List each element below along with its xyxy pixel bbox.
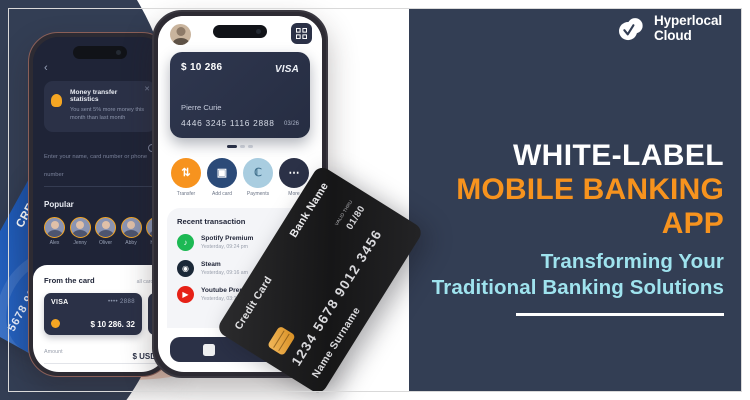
- contact-name: Oliver: [95, 240, 116, 246]
- contact-item[interactable]: Abby: [121, 217, 142, 247]
- primary-bank-card[interactable]: $ 10 286 VISA Pierre Curie 4446 3245 111…: [170, 52, 310, 138]
- close-icon[interactable]: ✕: [144, 85, 150, 93]
- headline-line-3: Transforming Your: [424, 249, 724, 276]
- banner: Hyperlocal Cloud WHITE-LABEL MOBILE BANK…: [0, 0, 750, 400]
- recipient-search-input[interactable]: Enter your name, card number or phone nu…: [44, 145, 156, 187]
- phone-notch: [73, 46, 127, 59]
- wallet-icon[interactable]: [203, 344, 215, 356]
- brand-logo[interactable]: Hyperlocal Cloud: [619, 14, 722, 43]
- transaction-name: Spotify Premium: [201, 235, 253, 242]
- stats-title: Money transfer statistics: [70, 89, 147, 103]
- amount-input[interactable]: $ USD: [44, 363, 156, 364]
- card-expiry: 03/26: [284, 121, 299, 127]
- contact-name: Alex: [44, 240, 65, 246]
- left-phone-mockup: ‹ ✕ Money transfer statistics You sent 5…: [28, 32, 172, 377]
- contact-name: Jenny: [70, 240, 91, 246]
- headline-block: WHITE-LABEL MOBILE BANKING APP Transform…: [424, 140, 724, 316]
- from-card-label: From the card: [44, 276, 95, 285]
- avatar: [121, 217, 142, 238]
- stats-subtitle: You sent 5% more money this month than l…: [70, 106, 147, 123]
- headline-underline: [516, 313, 724, 317]
- youtube-icon: ▶: [177, 286, 194, 303]
- card-number: 4446 3245 1116 2888: [181, 118, 275, 128]
- brand-name: Hyperlocal Cloud: [654, 14, 722, 43]
- brand-name-line2: Cloud: [654, 29, 722, 44]
- contact-item[interactable]: Jenny: [70, 217, 91, 247]
- quick-actions: ⇅ Transfer ▣ Add card ℂ Payments ⋯ More: [158, 148, 322, 198]
- brand-name-line1: Hyperlocal: [654, 14, 722, 29]
- action-transfer[interactable]: ⇅ Transfer: [171, 158, 201, 198]
- spotify-icon: ♪: [177, 234, 194, 251]
- headline-line-1: WHITE-LABEL: [424, 140, 724, 172]
- action-add-card[interactable]: ▣ Add card: [207, 158, 237, 198]
- contact-name: Abby: [121, 240, 142, 246]
- avatar: [70, 217, 91, 238]
- avatar: [95, 217, 116, 238]
- popular-label: Popular: [44, 200, 156, 209]
- transaction-name: Steam: [201, 261, 248, 268]
- qr-glyph: [296, 28, 307, 39]
- visa-card-option[interactable]: VISA •••• 2888 $ 10 286. 32: [44, 293, 142, 335]
- chip-icon: [267, 326, 296, 356]
- action-label: Payments: [243, 191, 273, 197]
- contact-item[interactable]: Alex: [44, 217, 65, 247]
- cloud-check-icon: [619, 16, 647, 42]
- avatar: [44, 217, 65, 238]
- avatar[interactable]: [170, 24, 191, 45]
- card-holder-name: Pierre Curie: [181, 103, 222, 112]
- lightbulb-icon: [51, 94, 62, 107]
- card-badge-icon: [51, 319, 60, 328]
- card-balance: $ 10 286. 32: [91, 320, 135, 329]
- card-masked-number: •••• 2888: [108, 299, 135, 305]
- transfer-icon: ⇅: [171, 158, 201, 188]
- transaction-date: Yesterday, 09:16 am: [201, 270, 248, 276]
- action-payments[interactable]: ℂ Payments: [243, 158, 273, 198]
- add-card-icon: ▣: [207, 158, 237, 188]
- headline-line-4: Traditional Banking Solutions: [424, 275, 724, 302]
- transaction-date: Yesterday, 09:24 pm: [201, 244, 253, 250]
- more-icon: ⋯: [279, 158, 309, 188]
- contact-item[interactable]: Oliver: [95, 217, 116, 247]
- payments-icon: ℂ: [243, 158, 273, 188]
- qr-code-icon[interactable]: [291, 23, 312, 44]
- action-label: Add card: [207, 191, 237, 197]
- transfer-sheet: From the card all cards VISA •••• 2888 $…: [33, 265, 167, 372]
- search-placeholder: Enter your name, card number or phone nu…: [44, 154, 147, 178]
- steam-icon: ◉: [177, 260, 194, 277]
- headline-line-2: MOBILE BANKING APP: [424, 173, 724, 240]
- card-selector: VISA •••• 2888 $ 10 286. 32: [44, 293, 156, 335]
- phone-notch: [213, 25, 267, 38]
- popular-contacts-list: Alex Jenny Oliver Abby: [44, 217, 156, 247]
- visa-logo: VISA: [275, 64, 299, 75]
- action-label: Transfer: [171, 191, 201, 197]
- back-chevron-icon[interactable]: ‹: [44, 63, 156, 74]
- money-transfer-stats-card: ✕ Money transfer statistics You sent 5% …: [44, 81, 156, 132]
